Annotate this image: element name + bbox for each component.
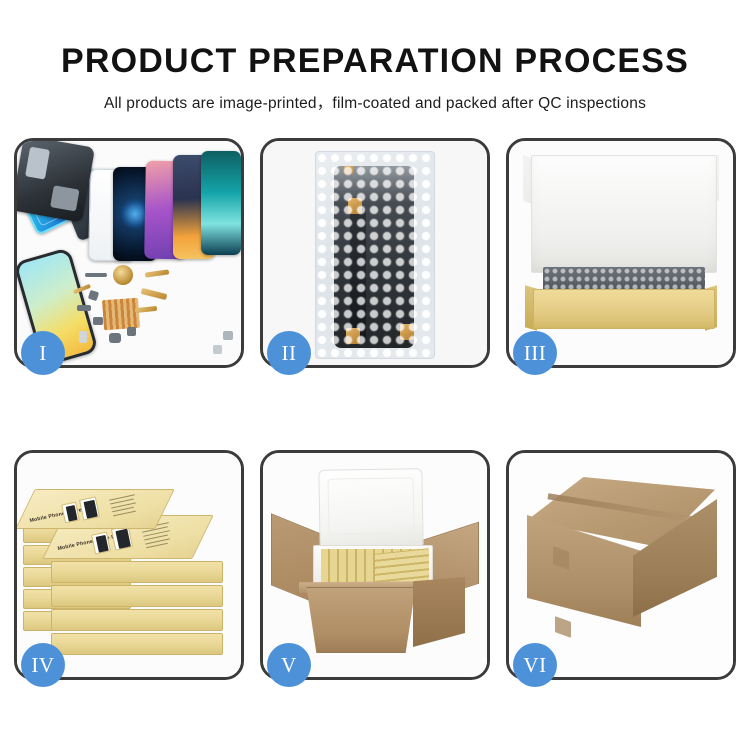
step-panel-3[interactable]: III xyxy=(506,138,736,368)
small-part-image xyxy=(77,305,91,311)
packing-tape-image xyxy=(555,616,571,638)
header: PRODUCT PREPARATION PROCESS All products… xyxy=(0,0,750,113)
yellow-box-front-image xyxy=(533,289,715,329)
bubble-wrap-bag-image xyxy=(315,151,435,359)
small-part-image xyxy=(79,331,87,343)
small-part-image xyxy=(223,331,233,340)
carton-front-image xyxy=(299,587,423,653)
adhesive-tab-image xyxy=(400,324,414,340)
infographic-page: PRODUCT PREPARATION PROCESS All products… xyxy=(0,0,750,750)
adhesive-tab-image xyxy=(348,198,362,214)
small-part-image xyxy=(85,273,107,277)
small-part-image xyxy=(109,333,121,343)
wrapped-screen-image xyxy=(334,166,414,348)
small-part-image xyxy=(127,327,136,336)
step-panel-5[interactable]: V xyxy=(260,450,490,680)
small-part-image xyxy=(213,345,222,354)
step-badge-3: III xyxy=(513,331,557,375)
step-panel-2[interactable]: II xyxy=(260,138,490,368)
stacked-box-image xyxy=(51,633,223,655)
page-subtitle: All products are image-printed，film-coat… xyxy=(0,91,750,113)
logic-board-part-image xyxy=(102,298,140,330)
step-panel-1[interactable]: I xyxy=(14,138,244,368)
step-badge-4: IV xyxy=(21,643,65,687)
stacked-box-image xyxy=(51,561,223,583)
small-part-image xyxy=(93,317,103,325)
carton-side-image xyxy=(413,577,465,647)
step-badge-6: VI xyxy=(513,643,557,687)
white-box-lid-image xyxy=(531,155,717,273)
flex-cable-part-image xyxy=(141,288,168,300)
page-title: PRODUCT PREPARATION PROCESS xyxy=(0,42,750,81)
flex-cable-part-image xyxy=(135,306,157,313)
teal-gradient-phone-image xyxy=(201,151,241,255)
adhesive-tab-image xyxy=(346,328,360,344)
box-stack-image: Mobile Phone Spare Parts Mobile xyxy=(23,471,241,665)
teardown-phone-image xyxy=(17,141,95,223)
small-part-image xyxy=(88,290,99,301)
step-panel-6[interactable]: VI xyxy=(506,450,736,680)
flex-cable-part-image xyxy=(145,269,169,277)
wrapped-flex-cable-image xyxy=(350,208,366,340)
foam-box-lid-image xyxy=(318,468,423,548)
vibration-motor-part-image xyxy=(113,265,133,285)
stacked-box-image xyxy=(51,585,223,607)
adhesive-tab-image xyxy=(344,166,354,174)
stacked-box-image xyxy=(51,609,223,631)
process-step-grid: I II xyxy=(14,138,736,680)
step-panel-4[interactable]: Mobile Phone Spare Parts Mobile xyxy=(14,450,244,680)
step-badge-1: I xyxy=(21,331,65,375)
step-badge-5: V xyxy=(267,643,311,687)
step-badge-2: II xyxy=(267,331,311,375)
